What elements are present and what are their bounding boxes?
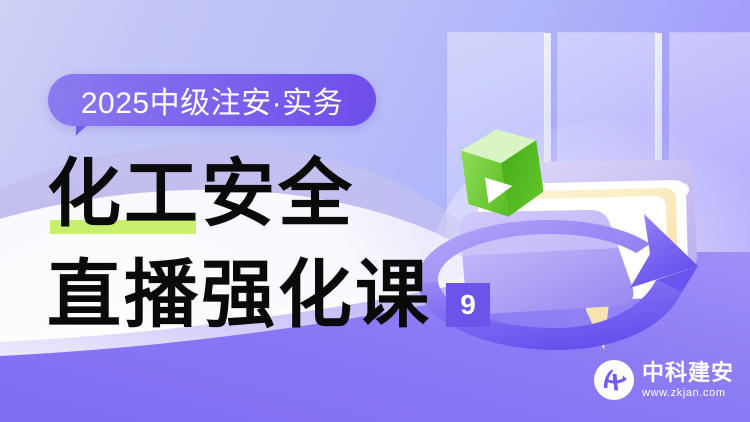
logo-text-block: 中科建安 www.zkjan.com: [642, 362, 734, 399]
logo-brand-name: 中科建安: [642, 362, 734, 384]
headline-line-1: 化工安全: [47, 155, 355, 235]
headline-block: 化工安全 直播强化课 9: [47, 155, 467, 336]
episode-number: 9: [460, 291, 476, 319]
headline-line-2-row: 直播强化课 9: [47, 256, 467, 336]
logo-circle-arrow-icon: [594, 360, 634, 400]
badge-label: 2025中级注安·实务: [81, 78, 343, 122]
course-promo-banner: 2025中级注安·实务 化工安全 直播强化课 9 中科建安 www: [0, 0, 750, 422]
brand-logo: 中科建安 www.zkjan.com: [594, 360, 734, 400]
headline-line-1-row: 化工安全: [47, 155, 467, 235]
logo-website-url: www.zkjan.com: [642, 388, 734, 399]
headline-line-2: 直播强化课: [47, 256, 432, 336]
course-category-badge: 2025中级注安·实务: [48, 74, 376, 126]
episode-number-badge: 9: [446, 283, 490, 327]
